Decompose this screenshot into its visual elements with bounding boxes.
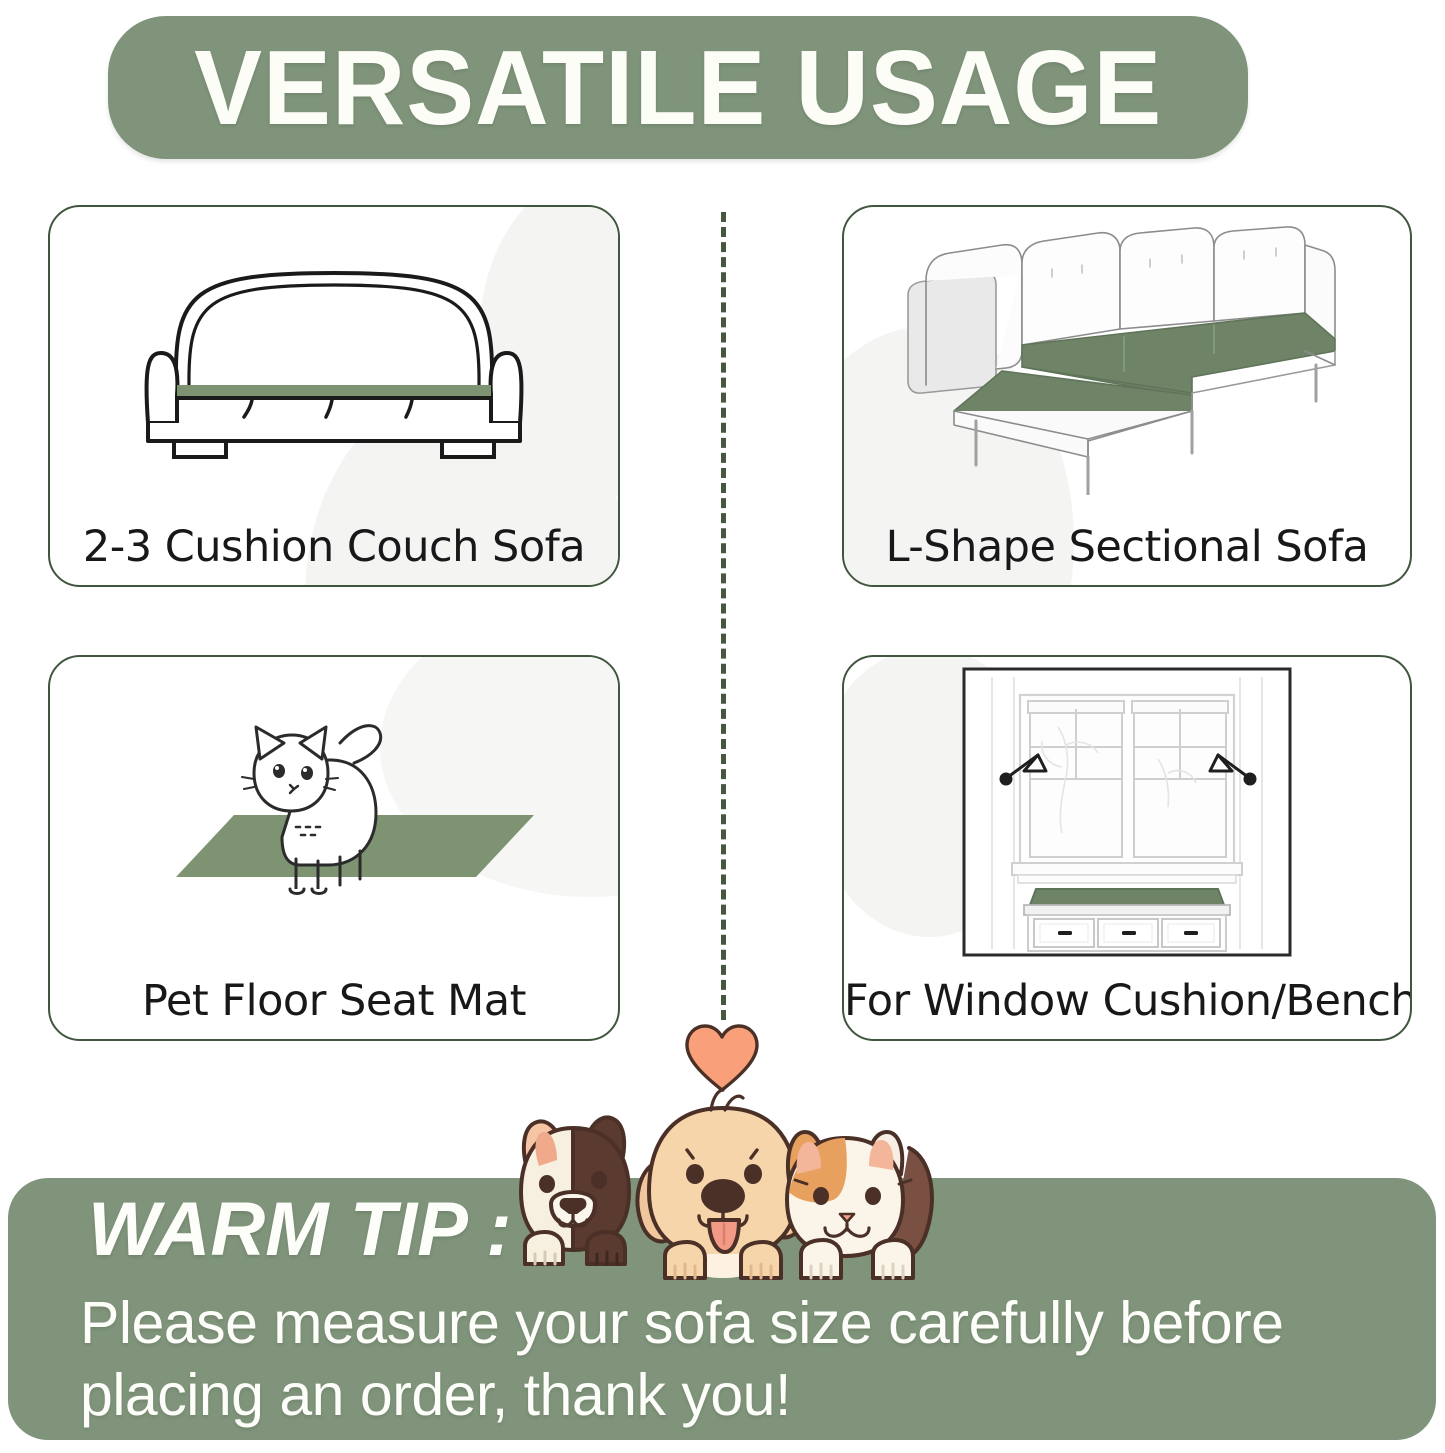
golden-retriever-puppy [638,1090,809,1278]
calico-cat [787,1132,932,1278]
dashed-divider [721,212,726,1020]
pets-illustration [489,1088,955,1288]
french-bulldog [521,1117,629,1264]
card-label: For Window Cushion/Bench [844,978,1410,1025]
window-bench-illustration [844,657,1410,967]
couch-sofa-illustration [50,207,618,513]
sectional-sofa-illustration [844,207,1410,513]
page-title: VERSATILE USAGE [194,35,1162,141]
warm-tip-heading: WARM TIP : [88,1192,512,1268]
card-label: Pet Floor Seat Mat [50,978,618,1025]
pet-floor-mat-illustration [50,657,618,967]
usage-card-window-bench: For Window Cushion/Bench [842,655,1412,1041]
card-label: L-Shape Sectional Sofa [844,524,1410,571]
usage-card-sectional-sofa: L-Shape Sectional Sofa [842,205,1412,587]
usage-card-couch-sofa: 2-3 Cushion Couch Sofa [48,205,620,587]
header-banner: VERSATILE USAGE [108,16,1248,159]
warm-tip-body: Please measure your sofa size carefully … [80,1288,1420,1432]
usage-card-pet-mat: Pet Floor Seat Mat [48,655,620,1041]
card-label: 2-3 Cushion Couch Sofa [50,524,618,571]
heart-icon [683,1022,761,1094]
